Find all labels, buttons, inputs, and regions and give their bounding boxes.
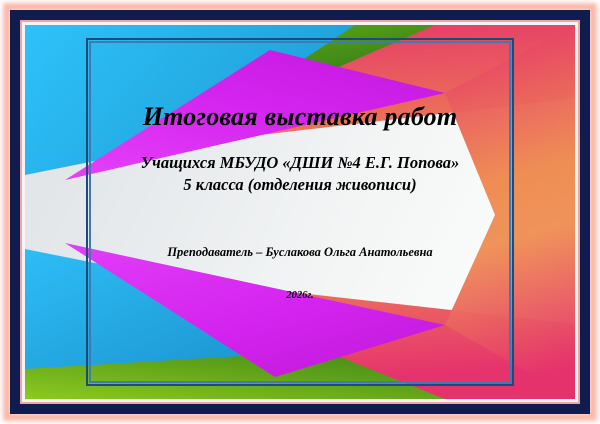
presentation-slide: Итоговая выставка работ Учащихся МБУДО «…: [0, 0, 600, 424]
geometric-background-artwork: [25, 25, 575, 399]
